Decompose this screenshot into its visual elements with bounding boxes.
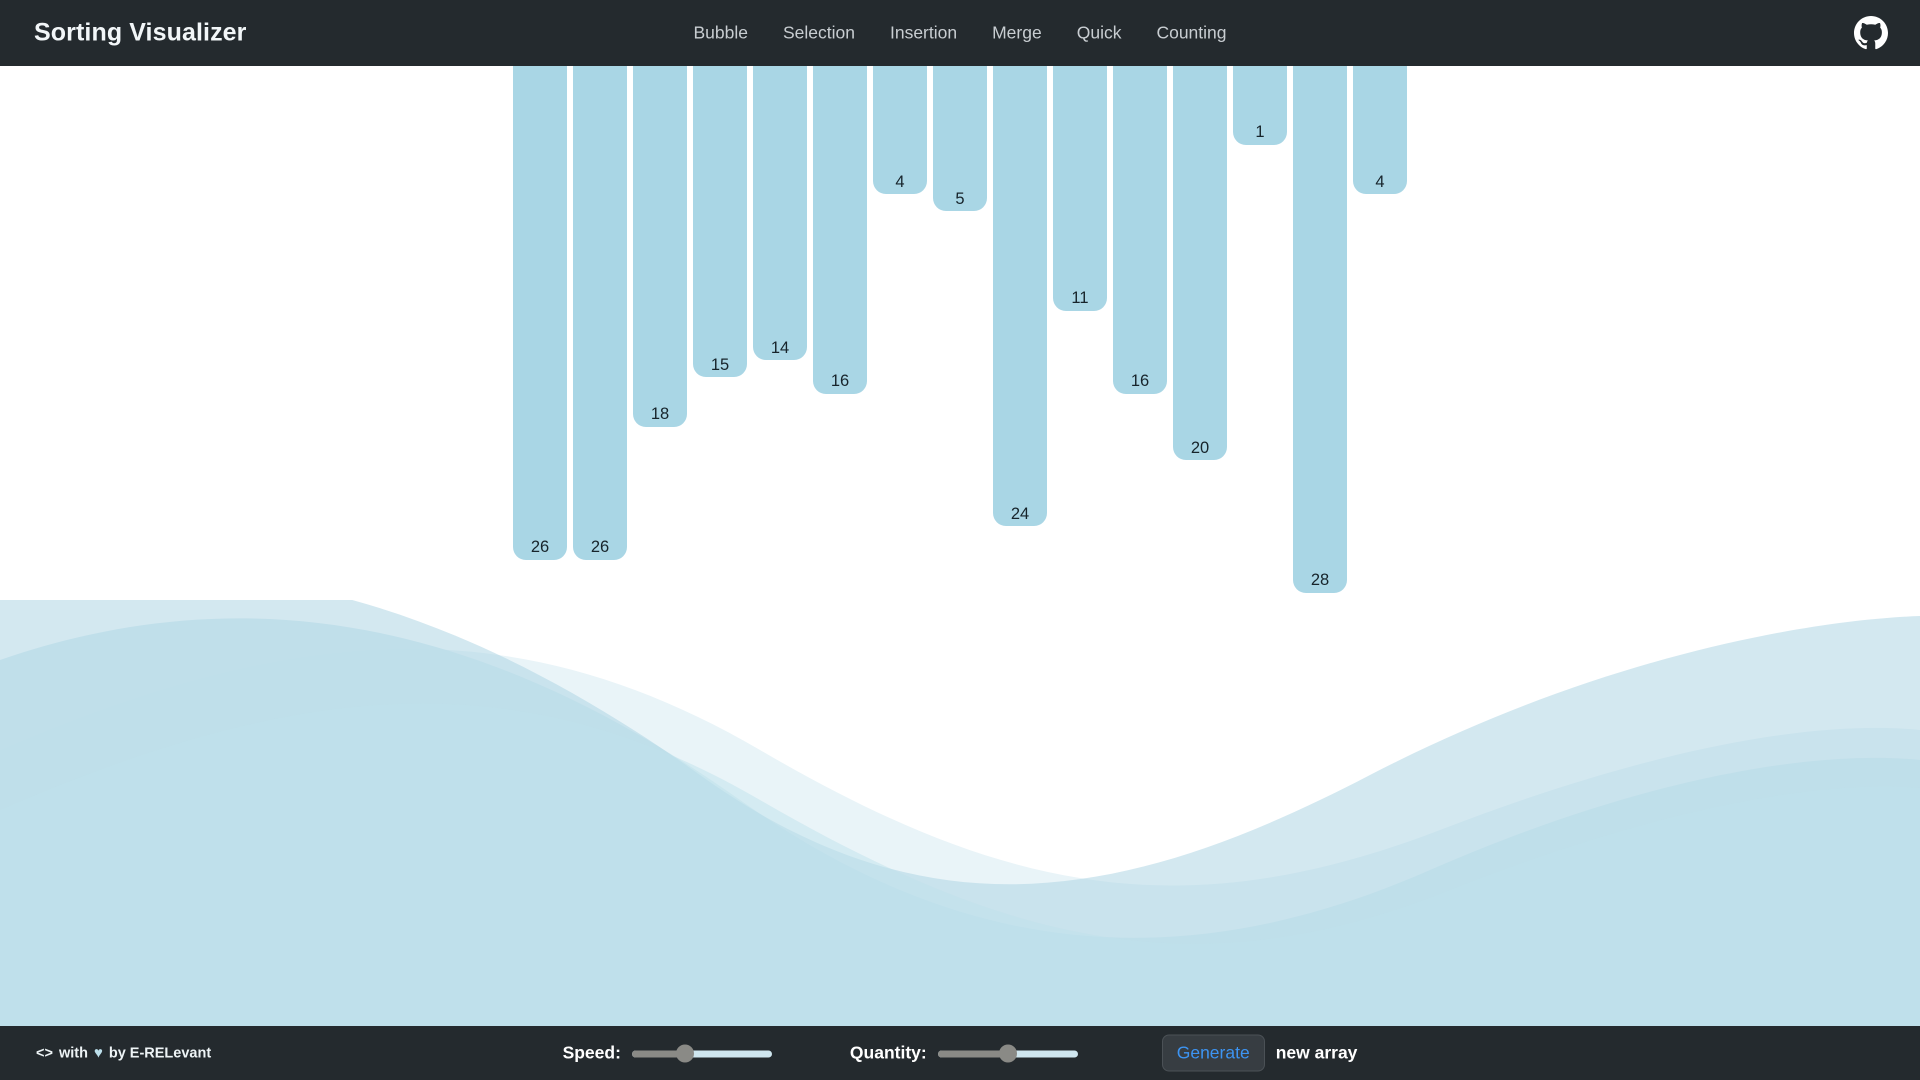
array-bar: 26	[573, 66, 627, 560]
nav-link-bubble[interactable]: Bubble	[692, 21, 749, 46]
generate-control: Generate new array	[1162, 1035, 1358, 1072]
nav-link-insertion[interactable]: Insertion	[889, 21, 958, 46]
algorithm-nav: Bubble Selection Insertion Merge Quick C…	[0, 21, 1920, 46]
wave-band-mid	[0, 618, 1920, 1040]
array-bar-value: 24	[1011, 506, 1029, 523]
wave-band-overlay	[0, 703, 1920, 1040]
array-bar: 24	[993, 66, 1047, 526]
array-bar: 4	[873, 66, 927, 194]
nav-link-selection[interactable]: Selection	[782, 21, 856, 46]
nav-link-counting[interactable]: Counting	[1155, 21, 1227, 46]
array-bar: 15	[693, 66, 747, 377]
navbar: Sorting Visualizer Bubble Selection Inse…	[0, 0, 1920, 66]
array-bar-value: 16	[1131, 373, 1149, 390]
array-bar-value: 4	[895, 174, 904, 191]
wave-decoration	[0, 600, 1920, 1040]
array-bar: 18	[633, 66, 687, 427]
quantity-slider-fill	[938, 1050, 1008, 1057]
array-bar-value: 26	[591, 539, 609, 556]
quantity-control: Quantity:	[850, 1043, 1078, 1064]
footer-controls: Speed: Quantity: Generate ne	[0, 1035, 1920, 1072]
array-bar: 4	[1353, 66, 1407, 194]
array-bar-value: 20	[1191, 440, 1209, 457]
generate-suffix-label: new array	[1276, 1043, 1358, 1064]
wave-band-light	[0, 649, 1920, 1040]
array-bar-value: 4	[1375, 174, 1384, 191]
array-bar-value: 11	[1071, 290, 1088, 307]
array-bar: 28	[1293, 66, 1347, 593]
speed-control: Speed:	[563, 1043, 772, 1064]
array-bar-value: 5	[955, 191, 964, 208]
generate-button[interactable]: Generate	[1162, 1035, 1265, 1072]
array-bar: 16	[813, 66, 867, 394]
speed-slider-thumb[interactable]	[676, 1044, 694, 1062]
array-bar: 11	[1053, 66, 1107, 311]
array-bar: 1	[1233, 66, 1287, 145]
quantity-label: Quantity:	[850, 1043, 927, 1064]
array-bar-value: 1	[1255, 124, 1264, 141]
array-bar: 20	[1173, 66, 1227, 460]
array-bar-value: 14	[771, 340, 789, 357]
nav-link-merge[interactable]: Merge	[991, 21, 1043, 46]
bars-container: 26261815141645241116201284	[0, 66, 1920, 1026]
array-bar: 26	[513, 66, 567, 560]
array-bar: 5	[933, 66, 987, 211]
array-bar-value: 26	[531, 539, 549, 556]
sorting-visualizer-app: Sorting Visualizer Bubble Selection Inse…	[0, 0, 1920, 1080]
nav-link-quick[interactable]: Quick	[1076, 21, 1123, 46]
array-bar: 16	[1113, 66, 1167, 394]
wave-band-dark	[0, 600, 1920, 1040]
array-bar-value: 18	[651, 406, 669, 423]
array-bar-value: 28	[1311, 572, 1329, 589]
quantity-slider[interactable]	[938, 1046, 1078, 1060]
array-bar-value: 16	[831, 373, 849, 390]
array-bar-value: 15	[711, 357, 729, 374]
speed-slider[interactable]	[632, 1046, 772, 1060]
speed-label: Speed:	[563, 1043, 621, 1064]
wave-svg	[0, 600, 1920, 1040]
bars-row: 26261815141645241116201284	[0, 66, 1920, 593]
array-bar: 14	[753, 66, 807, 360]
github-icon[interactable]	[1854, 16, 1888, 50]
quantity-slider-thumb[interactable]	[999, 1044, 1017, 1062]
footer: <> with ♥ by E-RELevant Speed: Quantity:	[0, 1026, 1920, 1080]
